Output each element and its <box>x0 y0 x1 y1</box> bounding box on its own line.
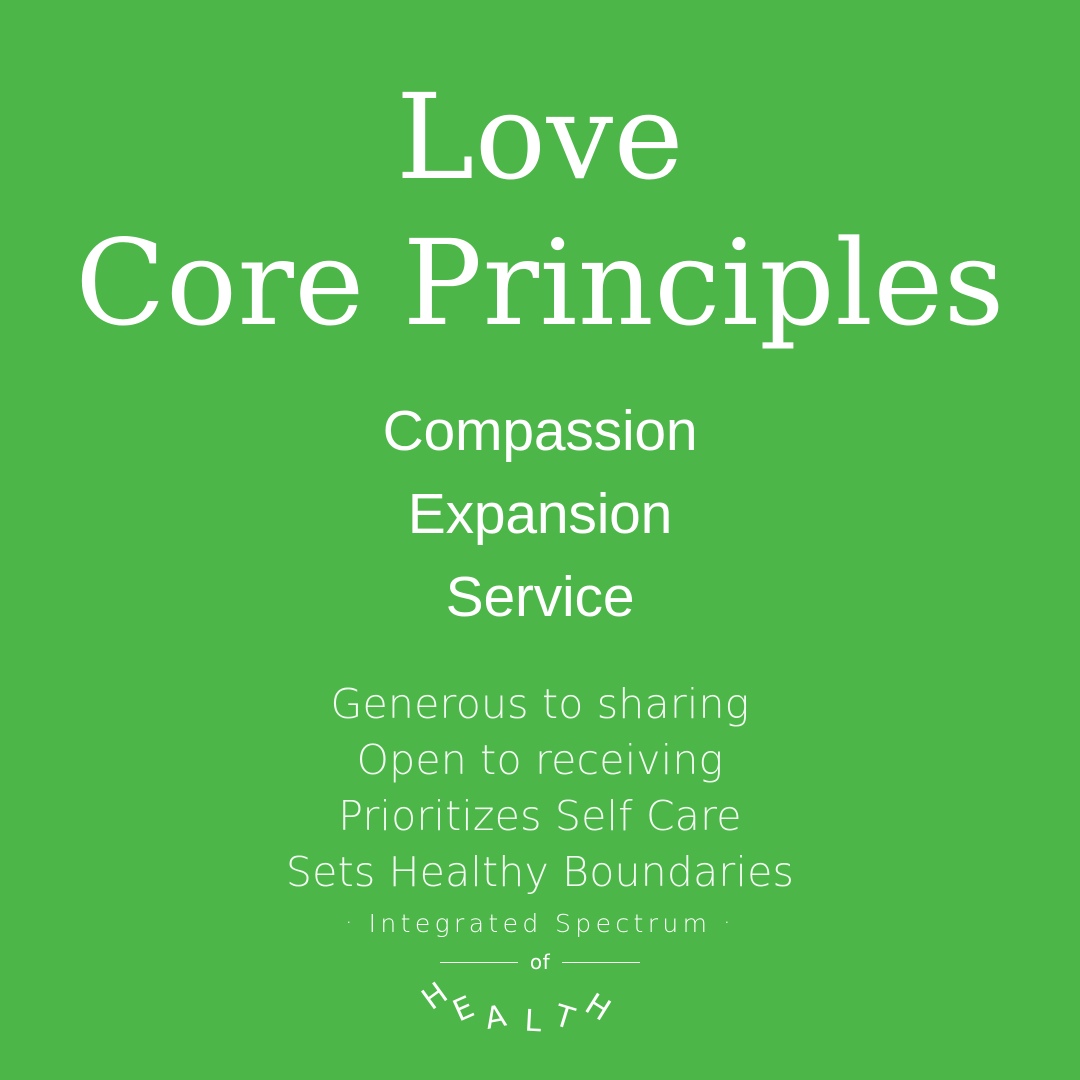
arc-letter: H <box>579 987 618 1029</box>
quality-item: Prioritizes Self Care <box>0 788 1080 844</box>
principle-item: Expansion <box>0 473 1080 556</box>
arc-letter: L <box>524 1004 544 1040</box>
arc-letter: E <box>448 989 480 1029</box>
quality-item: Sets Healthy Boundaries <box>0 844 1080 900</box>
arc-letter: T <box>549 998 579 1037</box>
logo-divider: of <box>440 952 640 972</box>
logo-wordmark-text: Integrated Spectrum <box>359 909 722 938</box>
principle-item: Service <box>0 556 1080 639</box>
qualities-list: Generous to sharing Open to receiving Pr… <box>0 676 1080 901</box>
logo-wordmark-row: · Integrated Spectrum · <box>343 909 737 938</box>
arc-text-svg: H E A L T H <box>425 974 655 1038</box>
headline-block: Love Core Principles <box>0 78 1080 342</box>
headline-primary: Love <box>0 78 1080 196</box>
quality-item: Open to receiving <box>0 732 1080 788</box>
quality-item: Generous to sharing <box>0 676 1080 732</box>
arc-letter: A <box>482 998 510 1036</box>
logo-connector-text: of <box>518 952 562 972</box>
principles-card: Love Core Principles Compassion Expansio… <box>0 0 1080 1080</box>
bullet-dot-right-icon: · <box>721 913 736 935</box>
brand-logo: · Integrated Spectrum · of H E A L T H <box>0 909 1080 1038</box>
logo-arc-word: H E A L T H <box>425 974 655 1038</box>
bullet-dot-left-icon: · <box>343 913 358 935</box>
principles-list: Compassion Expansion Service <box>0 390 1080 640</box>
headline-secondary: Core Principles <box>0 224 1080 342</box>
divider-rule-right-icon <box>562 962 640 963</box>
principle-item: Compassion <box>0 390 1080 473</box>
divider-rule-left-icon <box>440 962 518 963</box>
